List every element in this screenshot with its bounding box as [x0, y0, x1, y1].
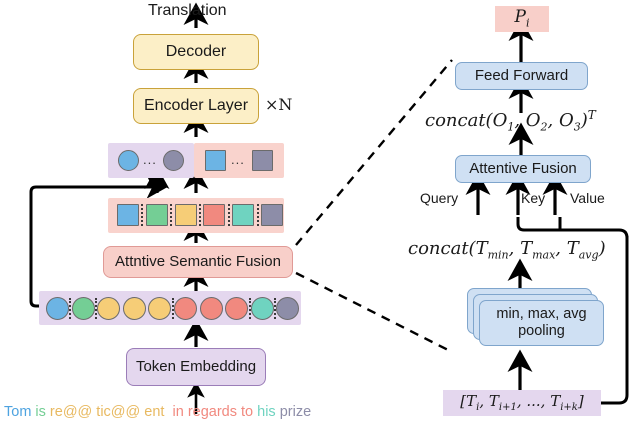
fused-subword-cell	[146, 204, 168, 226]
sentence-token: re@@	[50, 404, 96, 420]
token-embedding-cell	[46, 297, 69, 320]
fused-subword-separator	[141, 204, 143, 226]
token-embedding-cell	[174, 297, 197, 320]
token-embedding-cell	[148, 297, 171, 320]
token-embedding-cell	[251, 297, 274, 320]
decoder-box[interactable]: Decoder	[133, 34, 259, 70]
fused-subword-cell	[232, 204, 254, 226]
attentive-fusion-box[interactable]: Attentive Fusion	[455, 155, 591, 183]
feed-forward-box[interactable]: Feed Forward	[455, 62, 588, 90]
sentence-token: his	[257, 404, 280, 420]
pooling-card-front[interactable]: min, max, avg pooling	[479, 300, 604, 346]
fused-subword-row	[108, 198, 284, 233]
token-embedding-cell	[72, 297, 95, 320]
token-embedding-cell	[97, 297, 120, 320]
sentence-token: in	[172, 404, 187, 420]
feed-forward-label: Feed Forward	[475, 67, 568, 84]
attentive-fusion-label: Attentive Fusion	[469, 160, 577, 177]
sentence-token: is	[35, 404, 50, 420]
sentence-token: to	[241, 404, 257, 420]
input-token-span-label: [Ti, Ti+1, ..., Ti+k]	[460, 393, 583, 414]
translation-output-label: Translation	[148, 2, 227, 20]
fused-subword-cell	[117, 204, 139, 226]
pooling-label-line-1: min, max, avg	[496, 306, 586, 323]
word-rep-circle-1	[118, 150, 139, 171]
encoder-layer-label: Encoder Layer	[144, 97, 248, 115]
output-probability-label: Pi	[515, 8, 530, 30]
sentence-token: regards	[188, 404, 241, 420]
input-token-span-box: [Ti, Ti+1, ..., Ti+k]	[443, 390, 601, 416]
token-embedding-label: Token Embedding	[136, 358, 256, 375]
key-label: Key	[521, 190, 545, 206]
decoder-label: Decoder	[166, 43, 226, 61]
fused-subword-separator	[170, 204, 172, 226]
sentence-token: ent	[144, 404, 172, 420]
value-label: Value	[570, 190, 605, 206]
sentence-token: tic@@	[96, 404, 144, 420]
token-embedding-cell	[276, 297, 299, 320]
fused-subword-cell	[261, 204, 283, 226]
token-embedding-cell	[200, 297, 223, 320]
encoder-repeat-label: ×N	[265, 95, 292, 114]
concat-outputs-label: concat(O1, O2, O3)T	[425, 108, 596, 134]
token-embedding-box[interactable]: Token Embedding	[126, 348, 266, 386]
fused-subword-cell	[175, 204, 197, 226]
sentence-token: prize	[280, 404, 311, 420]
concat-pooled-tokens-label: concat(Tmin, Tmax, Tavg)	[408, 238, 606, 262]
zoom-callout-dashed-lines	[296, 60, 452, 352]
figure-canvas: Translation Decoder Encoder Layer ×N ...…	[0, 0, 640, 430]
word-rep-ellipsis: ...	[143, 152, 157, 167]
token-embedding-cell	[123, 297, 146, 320]
output-probability-box: Pi	[495, 6, 549, 32]
subword-rep-ellipsis: ...	[231, 152, 245, 167]
query-label: Query	[420, 190, 458, 206]
token-embedding-cell	[225, 297, 248, 320]
pooling-label-line-2: pooling	[518, 323, 565, 340]
fused-subword-separator	[228, 204, 230, 226]
fused-subword-cell	[203, 204, 225, 226]
subword-rep-square-1	[205, 150, 226, 171]
input-sentence: Tom is re@@ tic@@ ent in regards to his …	[4, 404, 311, 420]
attentive-semantic-fusion-box[interactable]: Attntive Semantic Fusion	[103, 246, 293, 278]
fused-subword-separator	[199, 204, 201, 226]
subword-rep-square-2	[252, 150, 273, 171]
token-embedding-row	[39, 291, 301, 325]
encoder-layer-box[interactable]: Encoder Layer	[133, 88, 259, 124]
attentive-semantic-fusion-label: Attntive Semantic Fusion	[115, 253, 281, 270]
word-rep-circle-2	[163, 150, 184, 171]
sentence-token: Tom	[4, 404, 35, 420]
fused-subword-separator	[257, 204, 259, 226]
token-embedding-separator	[69, 298, 71, 319]
